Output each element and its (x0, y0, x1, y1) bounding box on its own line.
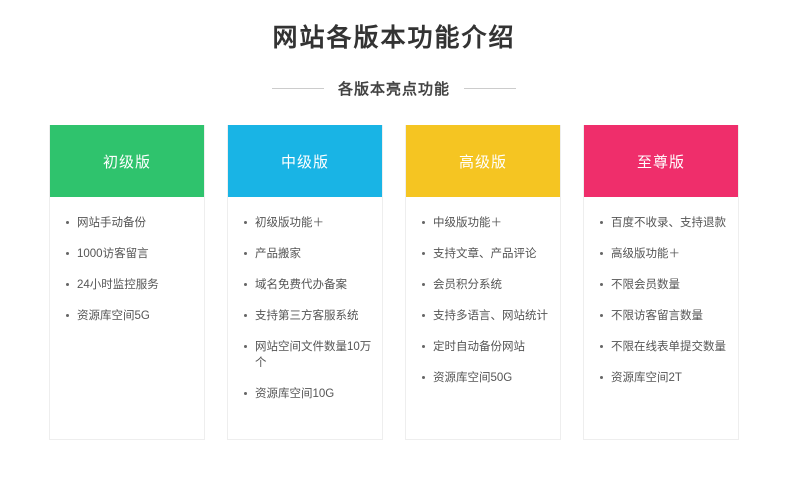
list-item: 支持第三方客服系统 (244, 308, 374, 324)
feature-list: 中级版功能＋ 支持文章、产品评论 会员积分系统 支持多语言、网站统计 定时自动备… (406, 215, 560, 386)
plan-card-header: 初级版 (50, 125, 204, 197)
list-item: 资源库空间2T (600, 370, 730, 386)
section-subtitle-label: 各版本亮点功能 (324, 78, 464, 99)
list-item: 域名免费代办备案 (244, 277, 374, 293)
list-item: 支持文章、产品评论 (422, 246, 552, 262)
plan-card-header: 高级版 (406, 125, 560, 197)
list-item: 不限会员数量 (600, 277, 730, 293)
plan-card-advanced[interactable]: 高级版 中级版功能＋ 支持文章、产品评论 会员积分系统 支持多语言、网站统计 定… (405, 125, 561, 440)
list-item: 百度不收录、支持退款 (600, 215, 730, 231)
list-item: 支持多语言、网站统计 (422, 308, 552, 324)
plan-card-body: 百度不收录、支持退款 高级版功能＋ 不限会员数量 不限访客留言数量 不限在线表单… (584, 197, 738, 439)
plan-name: 高级版 (459, 151, 507, 172)
section-subtitle: 各版本亮点功能 (0, 78, 788, 99)
plan-card-body: 中级版功能＋ 支持文章、产品评论 会员积分系统 支持多语言、网站统计 定时自动备… (406, 197, 560, 439)
plan-card-ultimate[interactable]: 至尊版 百度不收录、支持退款 高级版功能＋ 不限会员数量 不限访客留言数量 不限… (583, 125, 739, 440)
pricing-page: 网站各版本功能介绍 各版本亮点功能 初级版 网站手动备份 1000访客留言 24… (0, 0, 788, 500)
plan-card-basic[interactable]: 初级版 网站手动备份 1000访客留言 24小时监控服务 资源库空间5G (49, 125, 205, 440)
plan-name: 中级版 (281, 151, 329, 172)
plan-name: 初级版 (103, 151, 151, 172)
list-item: 1000访客留言 (66, 246, 196, 262)
list-item: 24小时监控服务 (66, 277, 196, 293)
feature-list: 初级版功能＋ 产品搬家 域名免费代办备案 支持第三方客服系统 网站空间文件数量1… (228, 215, 382, 402)
plan-card-list: 初级版 网站手动备份 1000访客留言 24小时监控服务 资源库空间5G 中级版… (0, 125, 788, 440)
plan-card-header: 中级版 (228, 125, 382, 197)
list-item: 资源库空间50G (422, 370, 552, 386)
feature-list: 百度不收录、支持退款 高级版功能＋ 不限会员数量 不限访客留言数量 不限在线表单… (584, 215, 738, 386)
list-item: 产品搬家 (244, 246, 374, 262)
list-item: 资源库空间5G (66, 308, 196, 324)
page-title: 网站各版本功能介绍 (0, 0, 788, 56)
list-item: 高级版功能＋ (600, 246, 730, 262)
list-item: 初级版功能＋ (244, 215, 374, 231)
list-item: 中级版功能＋ (422, 215, 552, 231)
divider-left (272, 88, 324, 89)
list-item: 网站空间文件数量10万个 (244, 339, 374, 371)
list-item: 定时自动备份网站 (422, 339, 552, 355)
plan-name: 至尊版 (637, 151, 685, 172)
divider-right (464, 88, 516, 89)
plan-card-header: 至尊版 (584, 125, 738, 197)
list-item: 网站手动备份 (66, 215, 196, 231)
plan-card-standard[interactable]: 中级版 初级版功能＋ 产品搬家 域名免费代办备案 支持第三方客服系统 网站空间文… (227, 125, 383, 440)
plan-card-body: 初级版功能＋ 产品搬家 域名免费代办备案 支持第三方客服系统 网站空间文件数量1… (228, 197, 382, 439)
list-item: 会员积分系统 (422, 277, 552, 293)
plan-card-body: 网站手动备份 1000访客留言 24小时监控服务 资源库空间5G (50, 197, 204, 439)
list-item: 不限访客留言数量 (600, 308, 730, 324)
feature-list: 网站手动备份 1000访客留言 24小时监控服务 资源库空间5G (50, 215, 204, 324)
list-item: 资源库空间10G (244, 386, 374, 402)
list-item: 不限在线表单提交数量 (600, 339, 730, 355)
